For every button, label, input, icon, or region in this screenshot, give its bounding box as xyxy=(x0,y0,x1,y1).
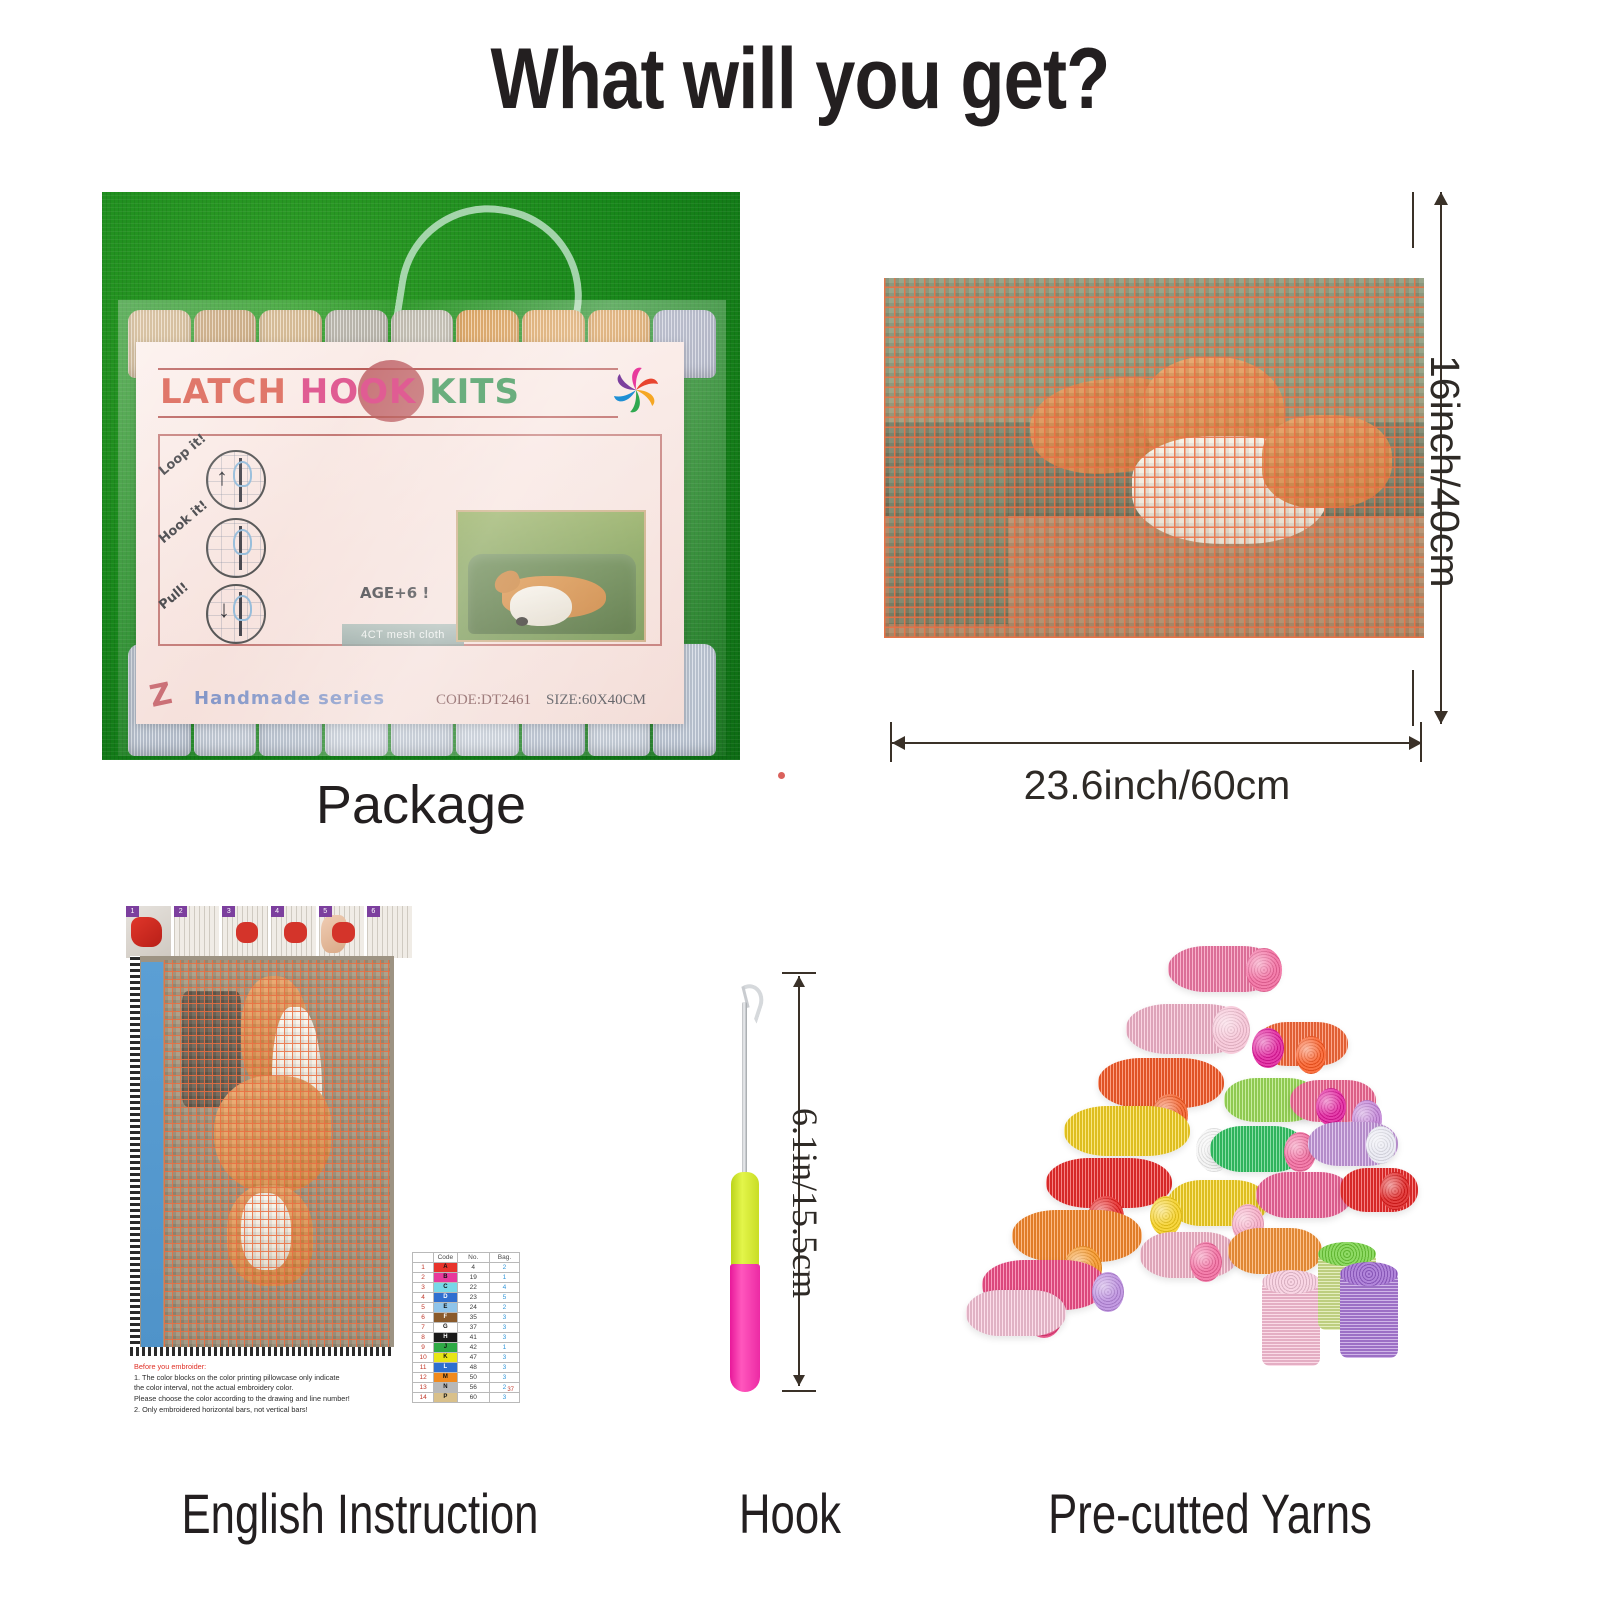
instruction-sheet: 1 2 3 4 5 6 xyxy=(126,900,412,1466)
legend-color-swatch: C xyxy=(434,1283,456,1292)
legend-cell-index: 6 xyxy=(413,1313,434,1323)
legend-cell-index: 7 xyxy=(413,1323,434,1333)
instruction-chart xyxy=(130,956,394,1356)
latch-hook-photo xyxy=(700,966,790,1396)
legend-cell-bag: 3 xyxy=(489,1313,519,1323)
pre-cut-yarns-photo xyxy=(960,920,1460,1410)
legend-row: 5E242 xyxy=(413,1303,520,1313)
note-line-3: Please choose the color according to the… xyxy=(134,1394,404,1405)
label-age-text: AGE+6 ! xyxy=(360,584,429,602)
legend-cell-index: 11 xyxy=(413,1363,434,1373)
label-step-1-text: Loop it! xyxy=(156,431,209,479)
hook-handle-upper xyxy=(731,1172,759,1268)
legend-row: 11L483 xyxy=(413,1363,520,1373)
step-photo-yarn-piece xyxy=(236,922,259,944)
yarn-bundle-end xyxy=(1092,1272,1124,1312)
instruction-step-photo: 4 xyxy=(271,906,316,958)
chart-blue-margin xyxy=(141,962,163,1348)
printed-canvas-photo xyxy=(884,278,1424,638)
label-title: LATCH HOOK KITS xyxy=(160,369,620,415)
legend-cell-no: 50 xyxy=(457,1373,489,1383)
legend-cell-code: G xyxy=(434,1323,457,1333)
yarn-bundle xyxy=(1256,1172,1352,1218)
dimension-tick-bottom xyxy=(1412,670,1414,726)
hook-metal-shaft xyxy=(742,1002,747,1182)
instruction-step-strip: 1 2 3 4 5 6 xyxy=(126,906,412,958)
yarn-bundle-end xyxy=(1316,1088,1346,1126)
label-step-2-text: Hook it! xyxy=(156,498,210,547)
legend-cell-code: F xyxy=(434,1313,457,1323)
legend-row: 7G373 xyxy=(413,1323,520,1333)
legend-cell-bag: 2 xyxy=(489,1303,519,1313)
yarn-bundle-end xyxy=(1212,1006,1250,1054)
label-footer: Z Handmade series CODE:DT2461 SIZE:60X40… xyxy=(136,676,684,716)
color-legend-table: Code No. Bag. 1A422B1913C2244D2355E2426F… xyxy=(412,1252,520,1403)
legend-cell-code: E xyxy=(434,1303,457,1313)
legend-cell-index: 5 xyxy=(413,1303,434,1313)
instruction-step-photo: 2 xyxy=(174,906,219,958)
legend-cell-bag: 3 xyxy=(489,1373,519,1383)
legend-color-swatch: E xyxy=(434,1303,456,1312)
instruction-step-photo: 3 xyxy=(222,906,267,958)
yarn-loop-icon xyxy=(233,595,252,621)
preview-dog-nose xyxy=(516,617,528,626)
step-photo-yarn-piece xyxy=(332,922,355,944)
package-photo: LATCH HOOK KITS Loop it! ↑ Hook it! xyxy=(102,192,740,760)
label-title-hook: HOOK xyxy=(300,372,417,412)
legend-color-swatch: H xyxy=(434,1333,456,1342)
page-title: What will you get? xyxy=(128,34,1472,124)
yarn-stack-top xyxy=(1262,1270,1320,1294)
yarn-bundle-end xyxy=(1190,1242,1222,1282)
legend-row: 8H413 xyxy=(413,1333,520,1343)
yarn-bundle-end xyxy=(1366,1126,1396,1164)
legend-color-swatch: L xyxy=(434,1363,456,1372)
legend-row: 9J421 xyxy=(413,1343,520,1353)
legend-cell-bag: 3 xyxy=(489,1393,519,1403)
step-badge: 2 xyxy=(174,906,187,917)
legend-cell-bag: 3 xyxy=(489,1333,519,1343)
step-badge: 6 xyxy=(367,906,380,917)
step-photo-yarn-piece xyxy=(284,922,307,944)
note-line-2: the color interval, not the actual embro… xyxy=(134,1383,404,1394)
hook-handle-lower xyxy=(730,1264,760,1392)
legend-cell-no: 47 xyxy=(457,1353,489,1363)
legend-cell-bag: 2 xyxy=(489,1383,519,1393)
legend-color-swatch: N xyxy=(434,1383,456,1392)
note-heading: Before you embroider: xyxy=(134,1362,404,1373)
yarn-loop-icon xyxy=(233,461,252,487)
label-title-kits: KITS xyxy=(429,372,520,412)
legend-cell-no: 24 xyxy=(457,1303,489,1313)
instruction-step-photo: 6 xyxy=(367,906,412,958)
legend-cell-code: H xyxy=(434,1333,457,1343)
note-line-4: 2. Only embroidered horizontal bars, not… xyxy=(134,1405,404,1416)
legend-cell-index: 12 xyxy=(413,1373,434,1383)
yarn-bundle-end xyxy=(1246,948,1282,992)
label-step-3-text: Pull! xyxy=(156,580,191,613)
legend-cell-code: D xyxy=(434,1293,457,1303)
legend-cell-code: N xyxy=(434,1383,457,1393)
legend-cell-index: 9 xyxy=(413,1343,434,1353)
legend-color-swatch: M xyxy=(434,1373,456,1382)
label-size-text: SIZE:60X40CM xyxy=(546,692,646,709)
legend-cell-no: 56 xyxy=(457,1383,489,1393)
yarn-bundle-end xyxy=(1252,1028,1284,1068)
legend-cell-code: A xyxy=(434,1263,457,1273)
legend-color-swatch: A xyxy=(434,1263,456,1272)
yarn-loop-icon xyxy=(233,529,252,555)
image-artifact-speck xyxy=(778,772,785,779)
legend-cell-code: B xyxy=(434,1273,457,1283)
hook-dimension-tick-bottom xyxy=(782,1390,816,1392)
caption-pre-cutted-yarns: Pre-cutted Yarns xyxy=(1015,1486,1405,1542)
legend-cell-no: 41 xyxy=(457,1333,489,1343)
legend-header-row: Code No. Bag. xyxy=(413,1253,520,1263)
chart-ruler-bottom xyxy=(130,1347,394,1356)
legend-cell-no: 23 xyxy=(457,1293,489,1303)
legend-cell-index: 8 xyxy=(413,1333,434,1343)
legend-cell-no: 19 xyxy=(457,1273,489,1283)
legend-cell-index: 4 xyxy=(413,1293,434,1303)
legend-cell-no: 4 xyxy=(457,1263,489,1273)
hook-length-label: 6.1in/15.5cm xyxy=(784,1108,826,1298)
legend-color-swatch: K xyxy=(434,1353,456,1362)
instruction-note: Before you embroider: 1. The color block… xyxy=(134,1362,404,1415)
caption-hook: Hook xyxy=(673,1486,907,1542)
hook-dimension-tick-top xyxy=(782,972,816,974)
legend-cell-no: 48 xyxy=(457,1363,489,1373)
zigzag-logo-icon: Z xyxy=(147,676,176,715)
legend-row: 2B191 xyxy=(413,1273,520,1283)
legend-cell-index: 1 xyxy=(413,1263,434,1273)
label-title-latch: LATCH xyxy=(160,372,287,412)
yarn-bundle xyxy=(966,1290,1066,1336)
canvas-grid-overlay xyxy=(884,278,1424,638)
legend-color-swatch: B xyxy=(434,1273,456,1282)
dimension-arrow-horizontal xyxy=(892,742,1422,744)
legend-cell-code: C xyxy=(434,1283,457,1293)
legend-cell-no: 42 xyxy=(457,1343,489,1353)
legend-cell-no: 22 xyxy=(457,1283,489,1293)
legend-cell-bag: 3 xyxy=(489,1323,519,1333)
chart-grid-overlay xyxy=(164,960,390,1348)
legend-cell-bag: 1 xyxy=(489,1273,519,1283)
instruction-step-photo: 1 xyxy=(126,906,171,958)
legend-cell-bag: 2 xyxy=(489,1263,519,1273)
legend-color-swatch: J xyxy=(434,1343,456,1352)
note-line-1: 1. The color blocks on the color printin… xyxy=(134,1373,404,1384)
label-mesh-banner: 4CT mesh cloth xyxy=(342,624,464,646)
arrow-up-icon: ↑ xyxy=(216,466,228,490)
legend-header-index xyxy=(413,1253,434,1263)
legend-row: 13N562 xyxy=(413,1383,520,1393)
label-step-3-diagram: ↓ xyxy=(206,584,266,644)
legend-cell-no: 37 xyxy=(457,1323,489,1333)
canvas-width-label: 23.6inch/60cm xyxy=(892,762,1422,809)
step-badge: 4 xyxy=(271,906,284,917)
legend-cell-index: 13 xyxy=(413,1383,434,1393)
arrow-down-icon: ↓ xyxy=(218,598,230,622)
yarn-bundle-end xyxy=(1296,1036,1326,1074)
legend-color-swatch: F xyxy=(434,1313,456,1322)
legend-cell-code: L xyxy=(434,1363,457,1373)
label-rule-bottom xyxy=(158,416,618,418)
label-design-preview xyxy=(456,510,646,642)
step-badge: 1 xyxy=(126,906,139,917)
legend-cell-index: 3 xyxy=(413,1283,434,1293)
label-instruction-box: Loop it! ↑ Hook it! Pull! ↓ AGE+6 ! 4CT … xyxy=(158,434,662,646)
yarn-bundle-end xyxy=(1150,1196,1182,1236)
legend-cell-code: P xyxy=(434,1393,457,1403)
legend-cell-bag: 5 xyxy=(489,1293,519,1303)
step-badge: 3 xyxy=(222,906,235,917)
legend-cell-code: M xyxy=(434,1373,457,1383)
canvas-height-label: 16inch/40cm xyxy=(1421,355,1468,587)
legend-cell-bag: 4 xyxy=(489,1283,519,1293)
legend-total: 37 xyxy=(507,1387,514,1393)
legend-cell-bag: 3 xyxy=(489,1363,519,1373)
label-brand-text: Handmade series xyxy=(194,688,385,709)
legend-row: 3C224 xyxy=(413,1283,520,1293)
dimension-tick-top xyxy=(1412,192,1414,248)
legend-cell-code: J xyxy=(434,1343,457,1353)
legend-header-bag: Bag. xyxy=(489,1253,519,1263)
legend-row: 14P603 xyxy=(413,1393,520,1403)
color-legend: Code No. Bag. 1A422B1913C2244D2355E2426F… xyxy=(412,1252,520,1403)
legend-row: 10K473 xyxy=(413,1353,520,1363)
legend-header-code: Code xyxy=(434,1253,457,1263)
package-label: LATCH HOOK KITS Loop it! ↑ Hook it! xyxy=(136,342,684,724)
label-code-text: CODE:DT2461 xyxy=(436,692,531,709)
yarn-bundle xyxy=(1140,1232,1238,1278)
legend-row: 4D235 xyxy=(413,1293,520,1303)
canvas-mesh xyxy=(884,278,1424,638)
legend-color-swatch: P xyxy=(434,1393,456,1402)
legend-header-no: No. xyxy=(457,1253,489,1263)
legend-cell-code: K xyxy=(434,1353,457,1363)
legend-row: 12M503 xyxy=(413,1373,520,1383)
instruction-step-photo: 5 xyxy=(319,906,364,958)
chart-ruler-left xyxy=(130,956,140,1356)
caption-english-instruction: English Instruction xyxy=(126,1486,594,1542)
legend-color-swatch: G xyxy=(434,1323,456,1332)
step-badge: 5 xyxy=(319,906,332,917)
legend-cell-no: 35 xyxy=(457,1313,489,1323)
legend-row: 6F353 xyxy=(413,1313,520,1323)
yarn-bundle-end xyxy=(1380,1172,1410,1210)
pinwheel-logo-icon xyxy=(610,364,662,416)
legend-color-swatch: D xyxy=(434,1293,456,1302)
legend-row: 1A42 xyxy=(413,1263,520,1273)
legend-cell-no: 60 xyxy=(457,1393,489,1403)
legend-cell-index: 10 xyxy=(413,1353,434,1363)
chart-artwork xyxy=(164,960,390,1348)
label-step-1-diagram: ↑ xyxy=(206,450,266,510)
legend-cell-bag: 3 xyxy=(489,1353,519,1363)
legend-cell-bag: 1 xyxy=(489,1343,519,1353)
label-step-2-diagram xyxy=(206,518,266,578)
legend-cell-index: 14 xyxy=(413,1393,434,1403)
caption-package: Package xyxy=(102,778,740,832)
yarn-stack-top xyxy=(1340,1262,1398,1286)
yarn-bundle xyxy=(1064,1106,1190,1156)
legend-cell-index: 2 xyxy=(413,1273,434,1283)
yarn-bundle xyxy=(1228,1228,1322,1274)
